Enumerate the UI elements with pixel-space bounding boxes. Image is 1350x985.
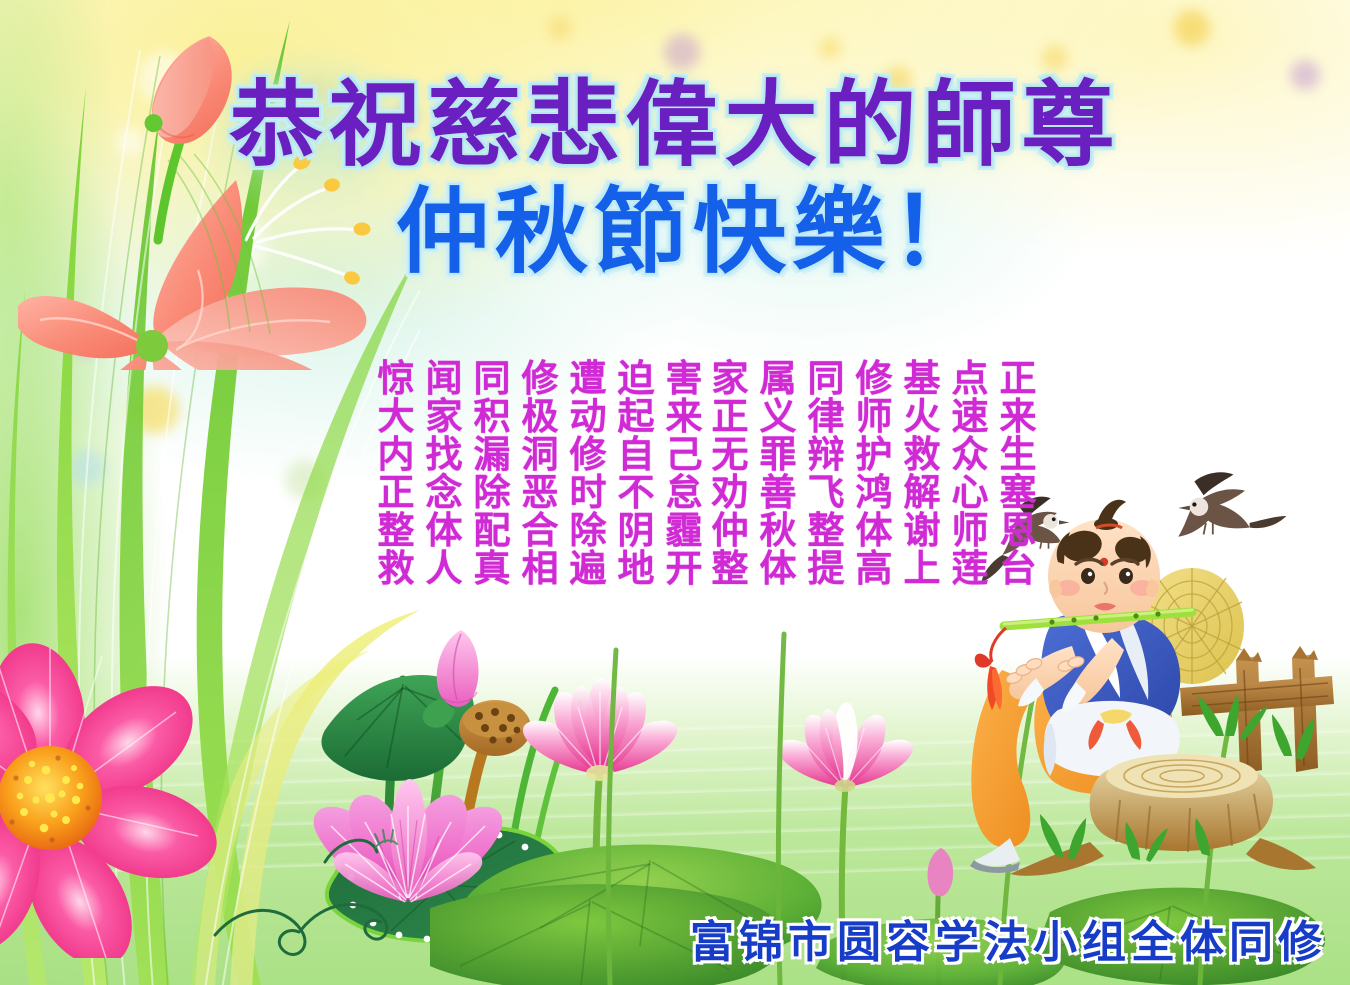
poem-character: 台: [1000, 550, 1037, 588]
poem-character: 开: [666, 550, 703, 588]
poem-character: 义: [760, 398, 797, 436]
poem-character: 心: [952, 474, 989, 512]
poem-right-column-2: 点速众心师莲: [946, 360, 994, 588]
poem-character: 正: [1000, 360, 1037, 398]
poem-character: 谢: [904, 512, 941, 550]
poem-right-column-5: 同律辩飞整提: [802, 360, 850, 588]
poem-character: 众: [952, 436, 989, 474]
poem-character: 上: [904, 550, 941, 588]
poem-character: 律: [808, 398, 845, 436]
bokeh-dot: [1174, 10, 1210, 46]
poem-character: 点: [952, 360, 989, 398]
poem-character: 怠: [666, 474, 703, 512]
poem-character: 修: [856, 360, 893, 398]
bokeh-dot: [1042, 45, 1068, 71]
poem-character: 基: [904, 360, 941, 398]
poem-left-column-6: 闻家找念体人: [420, 360, 468, 588]
poem-character: 无: [712, 436, 749, 474]
poem-character: 劝: [712, 474, 749, 512]
poem-character: 救: [904, 436, 941, 474]
poem-character: 提: [808, 550, 845, 588]
poem-character: 正: [378, 474, 415, 512]
poem-character: 莲: [952, 550, 989, 588]
poem-left-column-7: 惊大内正整救: [372, 360, 420, 588]
poem-character: 家: [712, 360, 749, 398]
signature-text: 富锦市圆容学法小组全体同修: [690, 906, 1327, 970]
poem-character: 罪: [760, 436, 797, 474]
poem-character: 体: [426, 512, 463, 550]
poem-character: 正: [712, 398, 749, 436]
greeting-card: 恭祝慈悲偉大的師尊 仲秋節快樂！ 害来己怠霾开迫起自不阴地遭动修时除遍修极洞恶合…: [0, 0, 1350, 985]
poem-character: 塞: [1000, 474, 1037, 512]
poem-character: 自: [618, 436, 655, 474]
poem-character: 火: [904, 398, 941, 436]
poem-character: 解: [904, 474, 941, 512]
poem-character: 阴: [618, 512, 655, 550]
poem-character: 配: [474, 512, 511, 550]
poem-character: 遭: [570, 360, 607, 398]
poem-character: 不: [618, 474, 655, 512]
poem-left-column-3: 遭动修时除遍: [564, 360, 612, 588]
poem-left-column-1: 害来己怠霾开: [660, 360, 708, 588]
poem-character: 积: [474, 398, 511, 436]
poem-character: 同: [474, 360, 511, 398]
poem-right-column-1: 正来生塞恩台: [994, 360, 1042, 588]
poem-character: 恩: [1000, 512, 1037, 550]
poem-character: 家: [426, 398, 463, 436]
poem-character: 修: [522, 360, 559, 398]
poem-character: 同: [808, 360, 845, 398]
bokeh-dot: [548, 16, 572, 40]
poem-character: 害: [666, 360, 703, 398]
bokeh-dot: [664, 34, 700, 70]
poem-right-column-4: 修师护鸿体高: [850, 360, 898, 588]
poem-character: 来: [666, 398, 703, 436]
poem-left-column-4: 修极洞恶合相: [516, 360, 564, 588]
poem-character: 惊: [378, 360, 415, 398]
bokeh-dot: [819, 37, 841, 59]
poem-character: 时: [570, 474, 607, 512]
poem-character: 属: [760, 360, 797, 398]
poem-right-block: 正来生塞恩台点速众心师莲基火救解谢上修师护鸿体高同律辩飞整提属义罪善秋体家正无劝…: [706, 360, 1042, 588]
poem-character: 除: [474, 474, 511, 512]
poem-character: 相: [522, 550, 559, 588]
poem-character: 鸿: [856, 474, 893, 512]
lily-flower-top-left: [18, 10, 408, 370]
poem-character: 找: [426, 436, 463, 474]
poem-left-column-2: 迫起自不阴地: [612, 360, 660, 588]
boy-robe: [1041, 610, 1180, 777]
poem-left-column-5: 同积漏除配真: [468, 360, 516, 588]
poem-character: 恶: [522, 474, 559, 512]
poem-character: 秋: [760, 512, 797, 550]
poem-character: 整: [378, 512, 415, 550]
bird-right: [1178, 472, 1286, 536]
poem-character: 师: [952, 512, 989, 550]
poem-right-column-7: 家正无劝仲整: [706, 360, 754, 588]
poem-character: 遍: [570, 550, 607, 588]
poem-character: 人: [426, 550, 463, 588]
poem-character: 高: [856, 550, 893, 588]
poem-character: 极: [522, 398, 559, 436]
poem-character: 大: [378, 398, 415, 436]
poem-character: 内: [378, 436, 415, 474]
poem-character: 漏: [474, 436, 511, 474]
poem-character: 迫: [618, 360, 655, 398]
poem-character: 护: [856, 436, 893, 474]
poem-character: 念: [426, 474, 463, 512]
poem-character: 己: [666, 436, 703, 474]
poem-character: 整: [808, 512, 845, 550]
poem-character: 速: [952, 398, 989, 436]
bokeh-dot: [884, 66, 912, 94]
poem-character: 飞: [808, 474, 845, 512]
poem-left-block: 害来己怠霾开迫起自不阴地遭动修时除遍修极洞恶合相同积漏除配真闻家找念体人惊大内正…: [372, 360, 708, 588]
poem-character: 霾: [666, 512, 703, 550]
poem-character: 整: [712, 550, 749, 588]
poem-character: 师: [856, 398, 893, 436]
poem-character: 合: [522, 512, 559, 550]
poem-character: 起: [618, 398, 655, 436]
poem-character: 闻: [426, 360, 463, 398]
poem-character: 体: [856, 512, 893, 550]
poem-character: 善: [760, 474, 797, 512]
poem-character: 来: [1000, 398, 1037, 436]
poem-right-column-6: 属义罪善秋体: [754, 360, 802, 588]
poem-character: 除: [570, 512, 607, 550]
bokeh-dot: [1290, 60, 1320, 90]
poem-character: 仲: [712, 512, 749, 550]
poem-character: 动: [570, 398, 607, 436]
poem-character: 地: [618, 550, 655, 588]
poem-character: 生: [1000, 436, 1037, 474]
poem-character: 洞: [522, 436, 559, 474]
poem-character: 体: [760, 550, 797, 588]
poem-character: 辩: [808, 436, 845, 474]
poem-character: 真: [474, 550, 511, 588]
poem-character: 救: [378, 550, 415, 588]
poem-character: 修: [570, 436, 607, 474]
poem-right-column-3: 基火救解谢上: [898, 360, 946, 588]
